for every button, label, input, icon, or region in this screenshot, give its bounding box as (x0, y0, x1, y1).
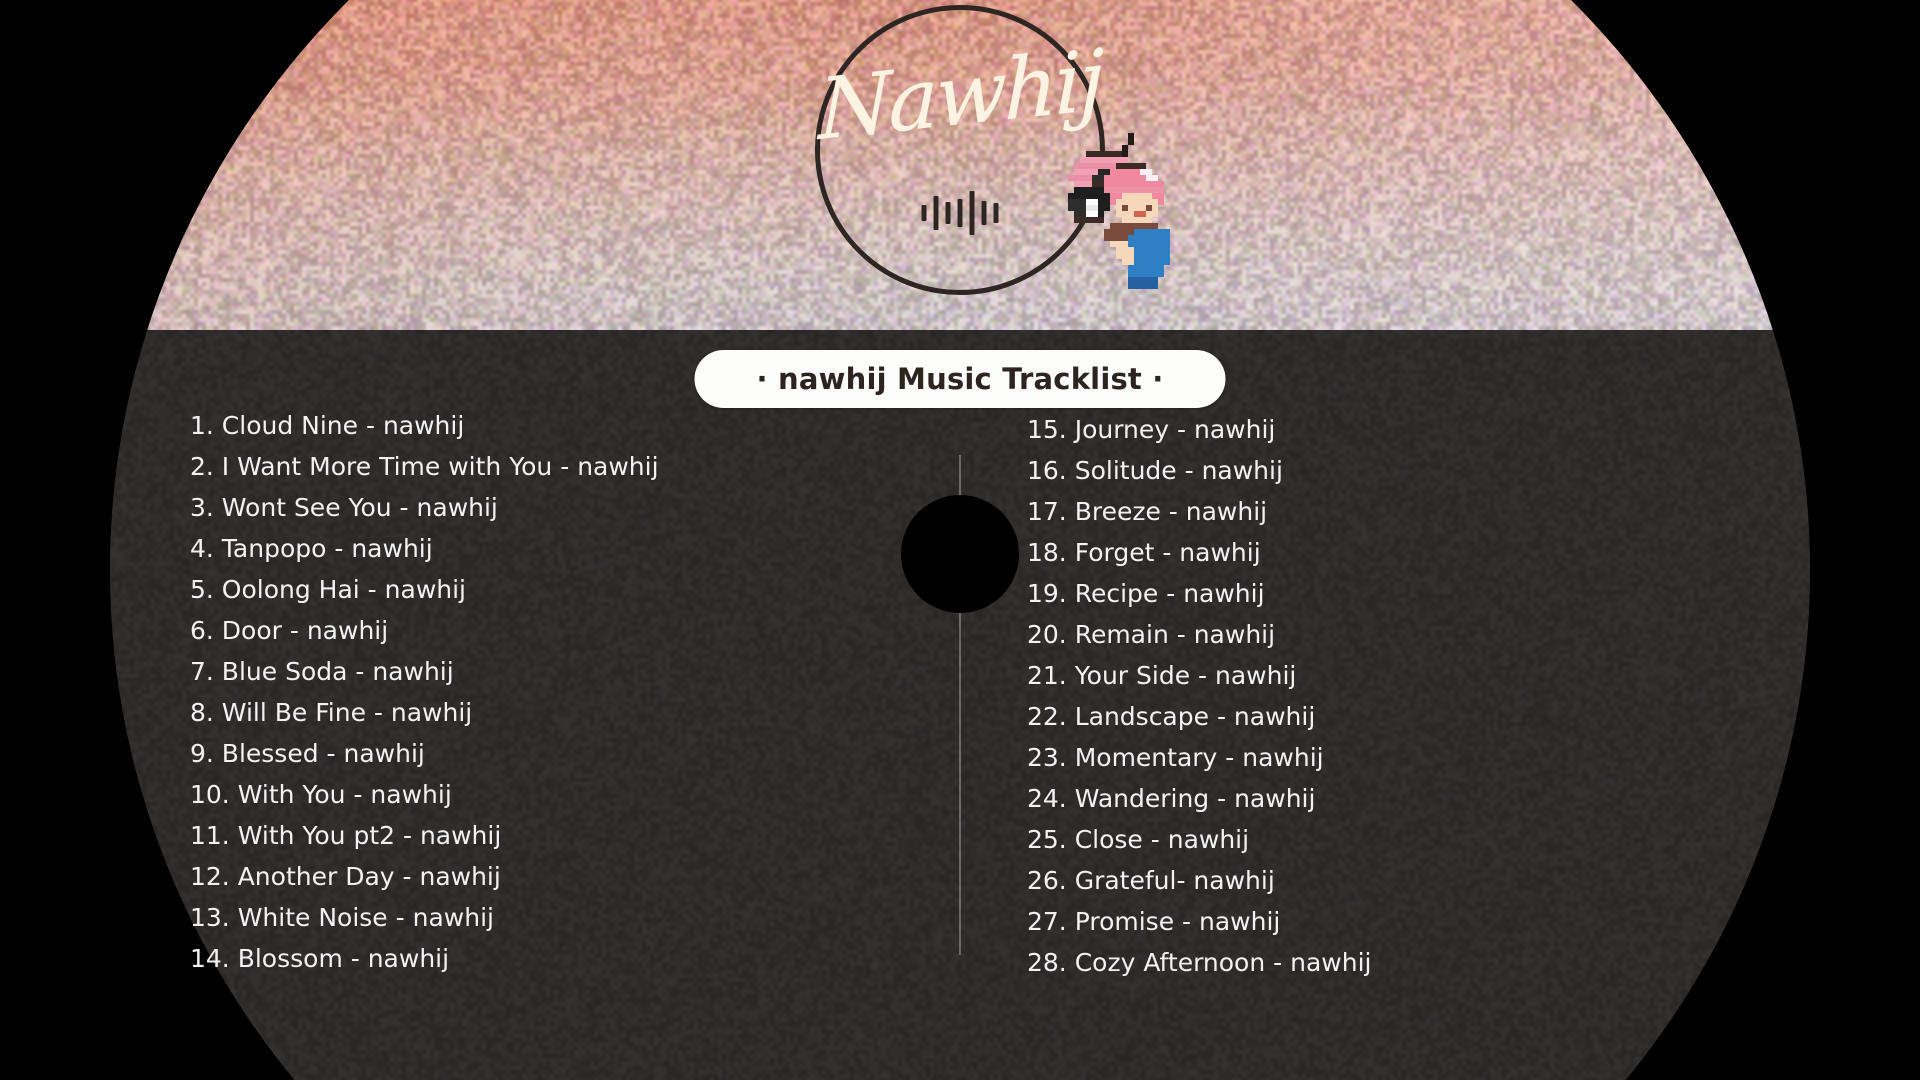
tracklist-title-pill: · nawhij Music Tracklist · (695, 350, 1226, 408)
track-item: 27. Promise - nawhij (1027, 901, 1727, 942)
track-item: 5. Oolong Hai - nawhij (190, 569, 910, 610)
page-title: · nawhij Music Tracklist · (757, 362, 1164, 396)
track-item: 4. Tanpopo - nawhij (190, 528, 910, 569)
track-item: 3. Wont See You - nawhij (190, 487, 910, 528)
waveform-bar-4 (958, 199, 963, 227)
waveform-icon (922, 183, 999, 243)
track-item: 8. Will Be Fine - nawhij (190, 692, 910, 733)
track-item: 24. Wandering - nawhij (1027, 778, 1727, 819)
track-item: 6. Door - nawhij (190, 610, 910, 651)
track-item: 20. Remain - nawhij (1027, 614, 1727, 655)
track-item: 19. Recipe - nawhij (1027, 573, 1727, 614)
track-item: 21. Your Side - nawhij (1027, 655, 1727, 696)
track-item: 2. I Want More Time with You - nawhij (190, 446, 910, 487)
track-item: 11. With You pt2 - nawhij (190, 815, 910, 856)
pixel-character-icon (1062, 128, 1194, 318)
track-item: 12. Another Day - nawhij (190, 856, 910, 897)
track-item: 16. Solitude - nawhij (1027, 450, 1727, 491)
waveform-bar-6 (982, 201, 987, 225)
record-center-hole (901, 495, 1019, 613)
track-item: 17. Breeze - nawhij (1027, 491, 1727, 532)
track-item: 22. Landscape - nawhij (1027, 696, 1727, 737)
track-item: 15. Journey - nawhij (1027, 409, 1727, 450)
tracklist-column-right: 15. Journey - nawhij16. Solitude - nawhi… (1027, 409, 1727, 983)
track-item: 1. Cloud Nine - nawhij (190, 405, 910, 446)
track-item: 10. With You - nawhij (190, 774, 910, 815)
waveform-bar-2 (934, 196, 939, 230)
track-item: 23. Momentary - nawhij (1027, 737, 1727, 778)
track-item: 14. Blossom - nawhij (190, 938, 910, 979)
track-item: 7. Blue Soda - nawhij (190, 651, 910, 692)
track-item: 25. Close - nawhij (1027, 819, 1727, 860)
waveform-bar-3 (946, 202, 951, 224)
track-item: 26. Grateful- nawhij (1027, 860, 1727, 901)
waveform-bar-5 (970, 191, 975, 235)
track-item: 18. Forget - nawhij (1027, 532, 1727, 573)
tracklist-artwork-canvas: Nawhij (0, 0, 1920, 1080)
track-item: 13. White Noise - nawhij (190, 897, 910, 938)
track-item: 28. Cozy Afternoon - nawhij (1027, 942, 1727, 983)
waveform-bar-1 (922, 205, 927, 221)
tracklist-column-left: 1. Cloud Nine - nawhij2. I Want More Tim… (190, 405, 910, 979)
track-item: 9. Blessed - nawhij (190, 733, 910, 774)
waveform-bar-7 (994, 203, 999, 223)
